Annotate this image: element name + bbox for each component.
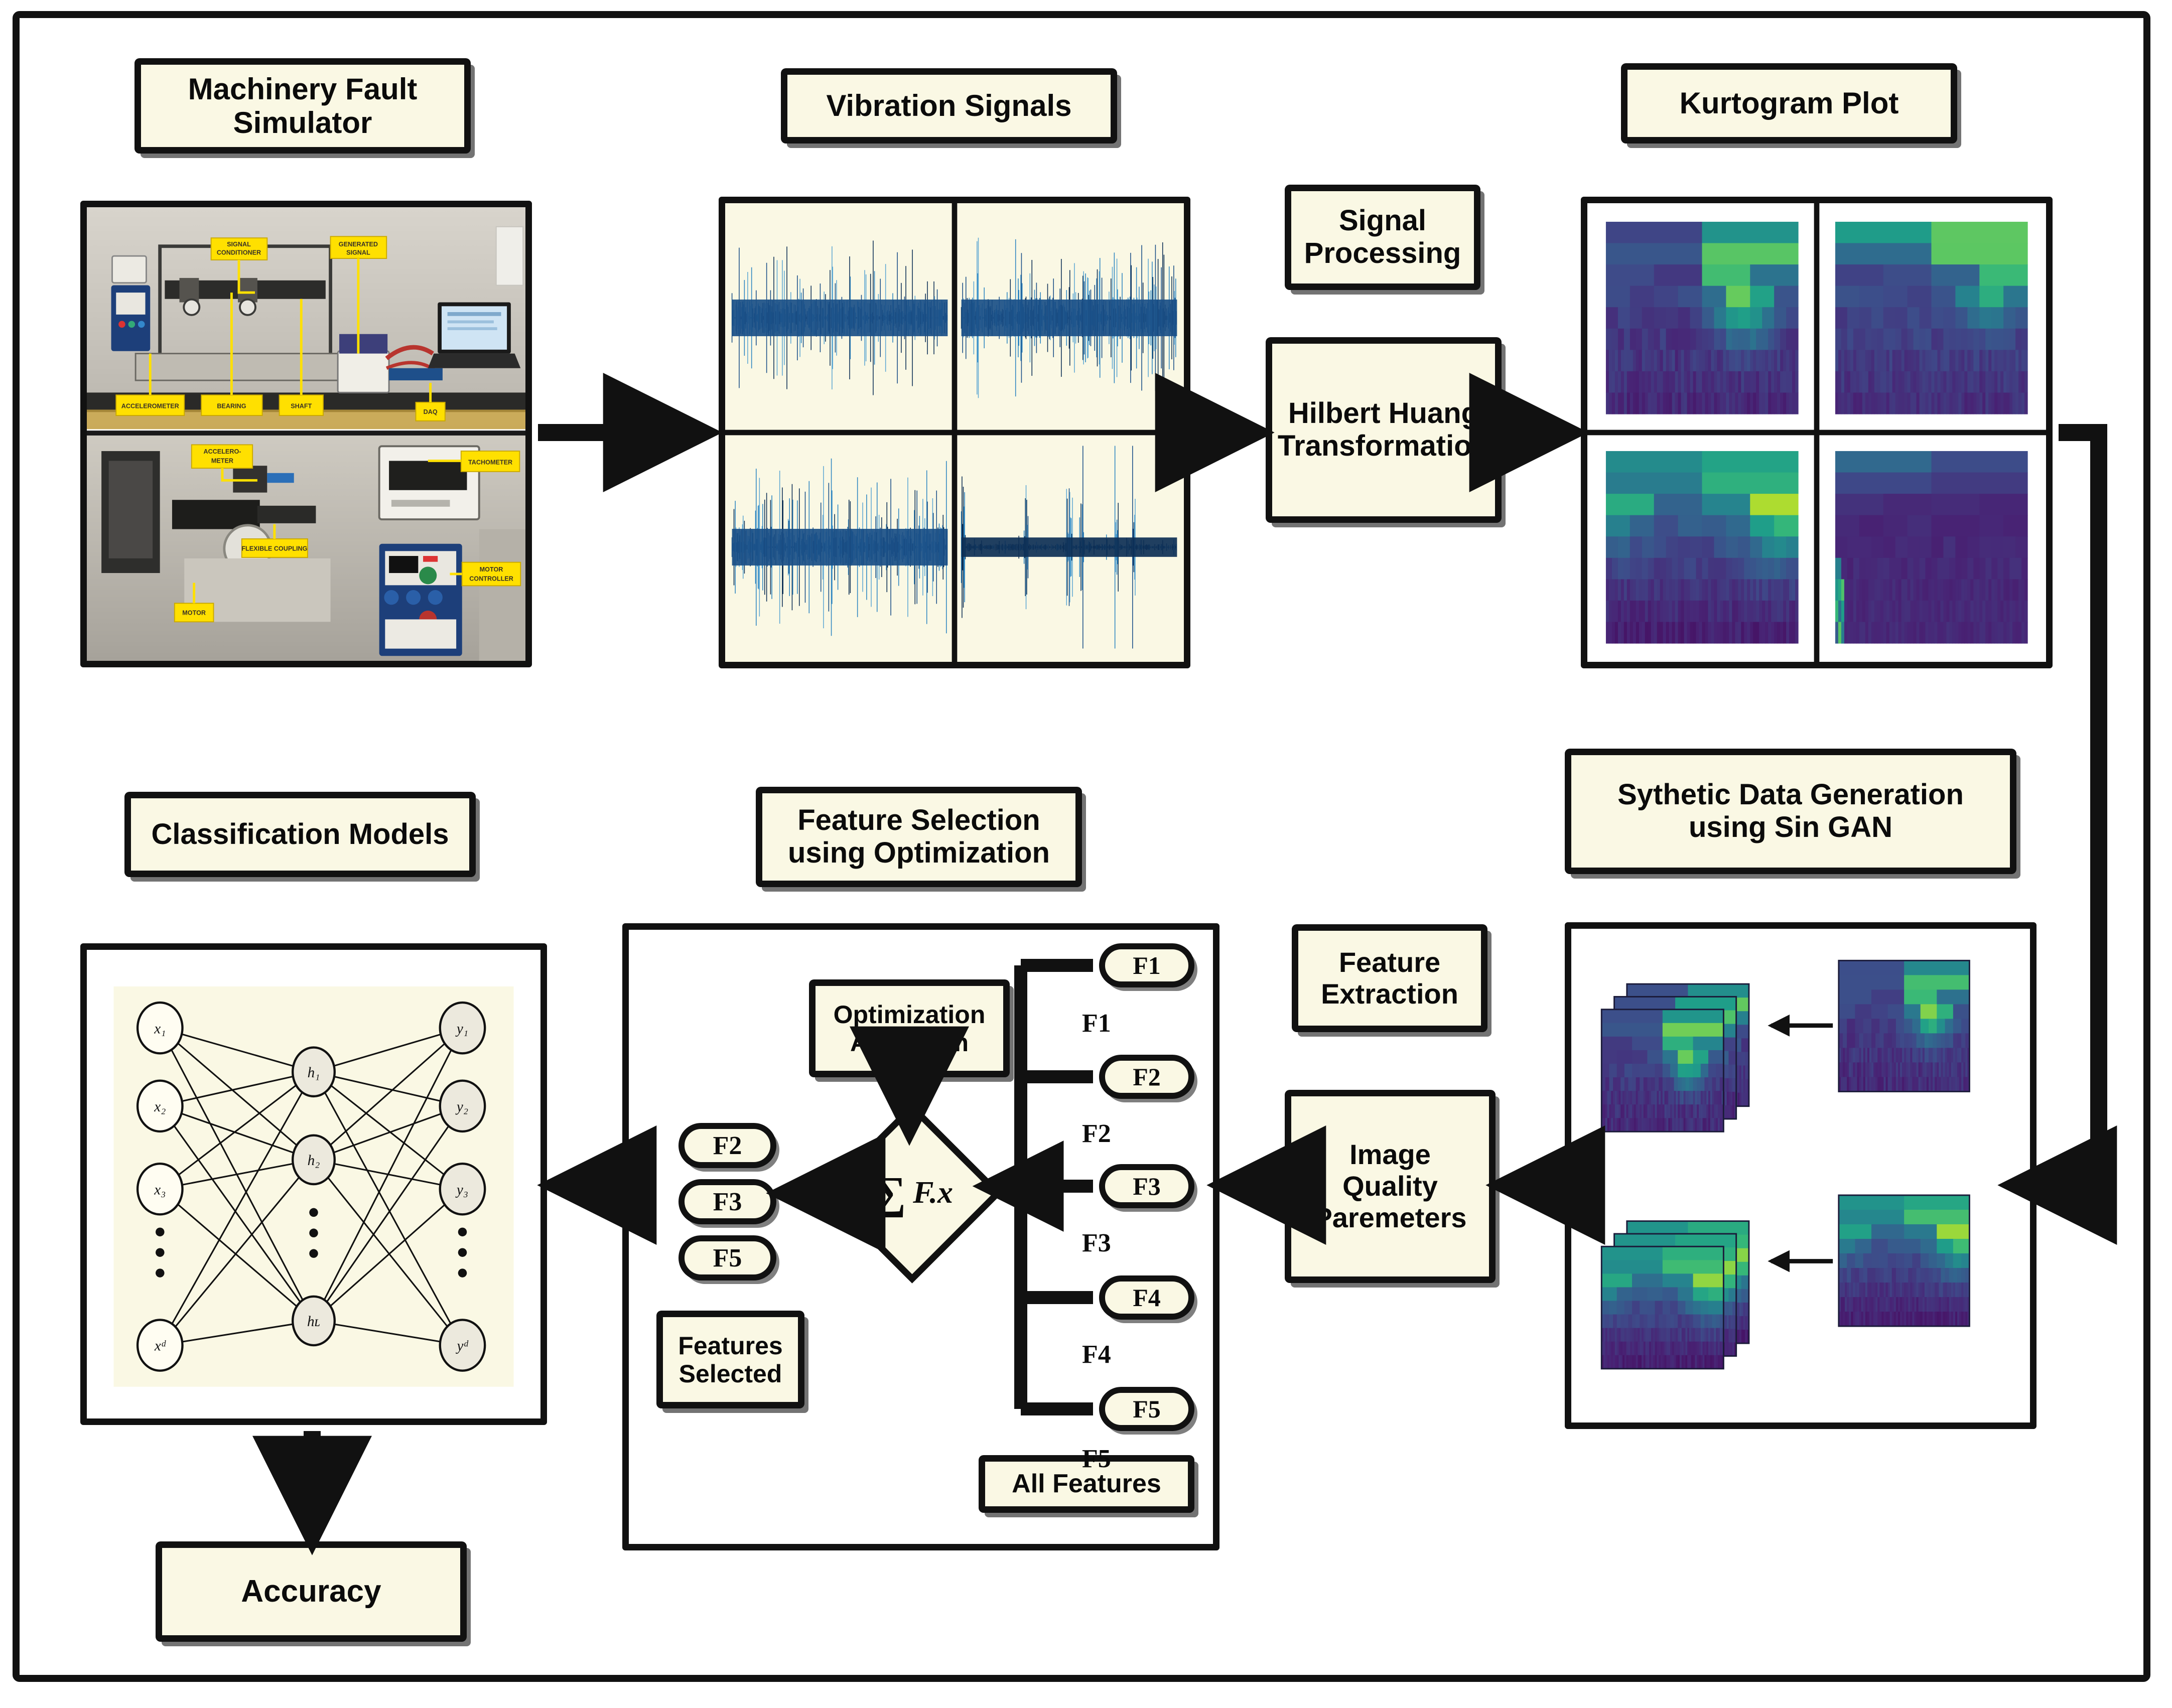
feature-tag-f3-label: F3 [1082,1229,1111,1257]
feature-tag-f3: F3 [1082,1228,1111,1258]
svg-text:METER: METER [211,457,233,464]
feature-pill-f3-label: F3 [1133,1172,1161,1201]
neural-network-diagram: x₁x₂x₃xᵈh₁h₂hʟy₁y₂y₃yᵈ [87,950,540,1418]
objective-formula: F.x [913,1175,953,1211]
svg-text:y₃: y₃ [455,1182,468,1198]
selected-pill-f3-label: F3 [713,1187,742,1217]
svg-text:y₁: y₁ [455,1021,468,1037]
feature-tag-f2: F2 [1082,1119,1111,1149]
box-accuracy: Accuracy [156,1541,467,1642]
selected-pill-f2[interactable]: F2 [678,1123,776,1168]
feature-tag-f5: F5 [1082,1444,1111,1474]
feature-pill-f5[interactable]: F5 [1099,1387,1194,1431]
svg-text:FLEXIBLE COUPLING: FLEXIBLE COUPLING [241,545,307,552]
svg-text:CONDITIONER: CONDITIONER [217,249,261,256]
title-feature-selection-label: Feature Selection using Optimization [783,804,1055,870]
box-features-selected-label: Features Selected [673,1332,787,1388]
box-hilbert-huang: Hilbert Huang Transformation [1266,337,1502,523]
svg-text:SHAFT: SHAFT [291,402,312,409]
title-classification-models: Classification Models [124,792,476,877]
svg-text:x₂: x₂ [154,1099,166,1115]
box-all-features-label: All Features [1007,1469,1166,1498]
title-classification-models-label: Classification Models [146,818,454,851]
title-feature-selection: Feature Selection using Optimization [756,787,1082,887]
feature-tag-f1: F1 [1082,1009,1111,1038]
synthetic-kurtogram-stacks [1571,929,2030,1422]
box-feature-extraction: Feature Extraction [1292,924,1487,1032]
vibration-signals-panel [719,197,1190,668]
selected-pill-f5[interactable]: F5 [678,1235,776,1280]
svg-text:ACCELERO-: ACCELERO- [203,448,241,455]
svg-text:BEARING: BEARING [217,402,246,409]
svg-text:x₃: x₃ [154,1182,166,1198]
title-vibration-signals: Vibration Signals [781,68,1117,144]
synthetic-data-panel [1565,922,2037,1429]
title-machinery-fault-simulator: Machinery Fault Simulator [134,58,471,154]
feature-pill-f3[interactable]: F3 [1099,1164,1194,1208]
svg-text:SIGNAL: SIGNAL [346,249,370,256]
svg-text:SIGNAL: SIGNAL [227,241,251,248]
title-synthetic-data-label: Sythetic Data Generation using Sin GAN [1612,779,1969,844]
title-kurtogram-plot-label: Kurtogram Plot [1675,86,1904,120]
title-machinery-fault-simulator-label: Machinery Fault Simulator [183,72,423,139]
box-image-quality-label: Image Quality Paremeters [1308,1139,1471,1233]
feature-tag-f5-label: F5 [1082,1445,1111,1473]
kurtogram-panel [1581,197,2053,668]
kurtogram-heatmaps [1587,203,2046,662]
feature-pill-f2-label: F2 [1133,1062,1161,1091]
feature-pill-f1[interactable]: F1 [1099,943,1194,987]
feature-pill-f2[interactable]: F2 [1099,1055,1194,1099]
svg-text:MOTOR: MOTOR [182,610,206,617]
svg-text:h₂: h₂ [308,1153,320,1169]
flowchart-canvas: Machinery Fault Simulator Vibration Sign… [0,0,2172,1708]
box-signal-processing: Signal Processing [1285,185,1480,290]
box-optimization-algorithm: Optimization Algorithm [809,979,1010,1077]
objective-expression: ∑ F.x [823,1129,1004,1257]
vibration-signals-plots [725,203,1184,662]
feature-tag-f2-label: F2 [1082,1119,1111,1148]
svg-text:MOTOR: MOTOR [480,566,503,573]
feature-pill-f4-label: F4 [1133,1283,1161,1312]
box-image-quality: Image Quality Paremeters [1285,1090,1496,1283]
title-vibration-signals-label: Vibration Signals [822,89,1077,122]
svg-text:hʟ: hʟ [307,1314,320,1330]
svg-text:h₁: h₁ [308,1065,320,1081]
box-signal-processing-label: Signal Processing [1299,205,1466,270]
svg-text:yᵈ: yᵈ [455,1338,468,1354]
box-hilbert-huang-label: Hilbert Huang Transformation [1273,397,1495,463]
box-features-selected: Features Selected [656,1311,804,1408]
svg-text:xᵈ: xᵈ [154,1338,166,1354]
svg-text:GENERATED: GENERATED [339,241,378,248]
box-optimization-algorithm-label: Optimization Algorithm [829,1001,991,1057]
selected-pill-f2-label: F2 [713,1131,742,1161]
classification-models-panel: x₁x₂x₃xᵈh₁h₂hʟy₁y₂y₃yᵈ [80,943,547,1425]
machinery-photo-image: SIGNALCONDITIONER GENERATEDSIGNAL ACCELE… [87,207,525,661]
svg-text:TACHOMETER: TACHOMETER [468,459,512,466]
box-accuracy-label: Accuracy [236,1574,386,1609]
feature-pill-f4[interactable]: F4 [1099,1275,1194,1320]
svg-text:CONTROLLER: CONTROLLER [469,576,513,583]
svg-text:ACCELEROMETER: ACCELEROMETER [121,402,179,409]
machinery-photo-panel: SIGNALCONDITIONER GENERATEDSIGNAL ACCELE… [80,201,532,667]
selected-pill-f5-label: F5 [713,1243,742,1273]
box-feature-extraction-label: Feature Extraction [1316,947,1463,1010]
title-kurtogram-plot: Kurtogram Plot [1621,63,1957,144]
svg-text:DAQ: DAQ [424,408,438,415]
title-synthetic-data: Sythetic Data Generation using Sin GAN [1565,749,2016,874]
feature-tag-f4: F4 [1082,1340,1111,1369]
sigma-symbol: ∑ [874,1167,906,1219]
svg-text:x₁: x₁ [154,1021,166,1037]
feature-tag-f4-label: F4 [1082,1340,1111,1369]
feature-pill-f1-label: F1 [1133,951,1161,980]
selected-pill-f3[interactable]: F3 [678,1179,776,1224]
svg-text:y₂: y₂ [455,1099,468,1115]
feature-tag-f1-label: F1 [1082,1009,1111,1038]
feature-pill-f5-label: F5 [1133,1394,1161,1424]
